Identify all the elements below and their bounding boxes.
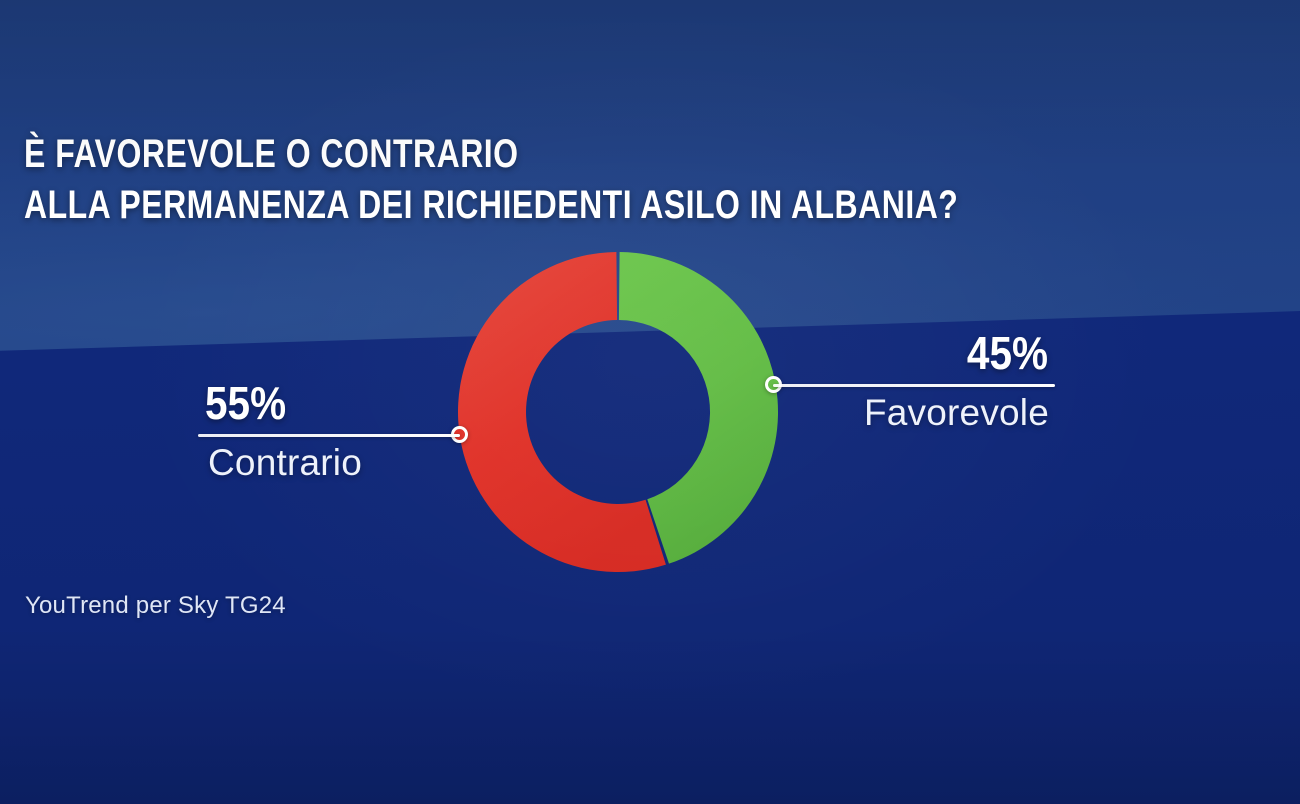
callout-contrario: 55% Contrario [198,380,460,485]
callout-contrario-label: Contrario [198,441,460,485]
callout-favorevole-label: Favorevole [773,391,1055,435]
page-title: È FAVOREVOLE O CONTRARIO ALLA PERMANENZA… [24,129,958,231]
callout-contrario-leader-line [198,434,460,437]
title-line-2: ALLA PERMANENZA DEI RICHIEDENTI ASILO IN… [24,180,958,231]
callout-contrario-value: 55% [198,380,429,426]
infographic-slide: È FAVOREVOLE O CONTRARIO ALLA PERMANENZA… [0,0,1300,804]
callout-favorevole-leader-line [773,384,1055,387]
callout-favorevole: 45% Favorevole [773,330,1055,435]
source-credit: YouTrend per Sky TG24 [25,592,286,620]
title-line-1: È FAVOREVOLE O CONTRARIO [24,129,958,180]
donut-chart-svg [458,252,778,572]
callout-favorevole-value: 45% [807,330,1055,376]
donut-chart [458,252,778,572]
